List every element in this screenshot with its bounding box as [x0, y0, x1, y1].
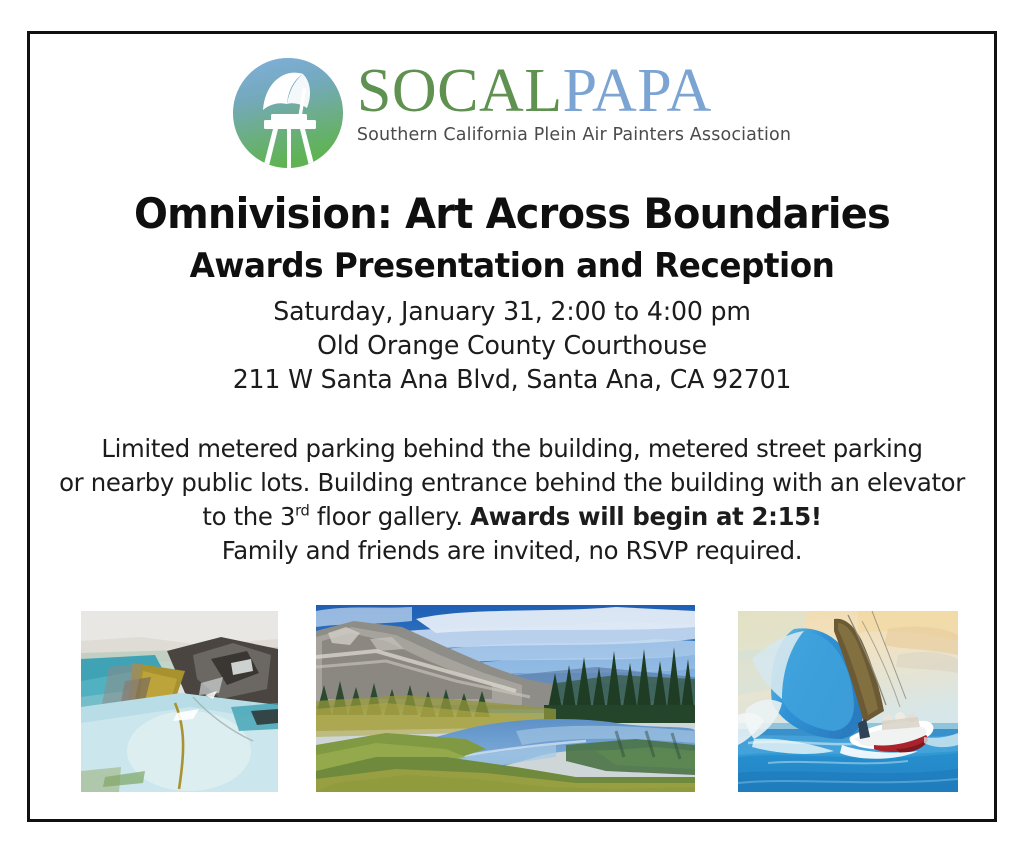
artwork-sailboat [738, 611, 958, 792]
logistics-line-3: to the 3rd floor gallery. Awards will be… [56, 500, 969, 534]
plein-air-easel-umbrella-icon [233, 58, 343, 168]
artwork-river-valley [316, 605, 695, 792]
event-details: Saturday, January 31, 2:00 to 4:00 pm Ol… [44, 296, 979, 397]
event-venue: Old Orange County Courthouse [44, 330, 979, 364]
logo-tagline: Southern California Plein Air Painters A… [357, 125, 791, 145]
logistics-floor-prefix: to the 3 [202, 502, 295, 531]
logistics-paragraph: Limited metered parking behind the build… [56, 432, 969, 568]
flyer-frame: SOCALPAPA Southern California Plein Air … [27, 31, 997, 822]
logistics-line-2: or nearby public lots. Building entrance… [56, 466, 969, 500]
event-datetime: Saturday, January 31, 2:00 to 4:00 pm [44, 296, 979, 330]
logistics-line-4: Family and friends are invited, no RSVP … [56, 534, 969, 568]
logo-wordmark: SOCALPAPA [357, 62, 791, 121]
logistics-floor-middle: floor gallery. [309, 502, 470, 531]
logistics-line-1: Limited metered parking behind the build… [56, 432, 969, 466]
organization-logo: SOCALPAPA Southern California Plein Air … [30, 56, 994, 168]
event-address: 211 W Santa Ana Blvd, Santa Ana, CA 9270… [44, 364, 979, 398]
artwork-abstract-coast [81, 611, 278, 792]
awards-start-emphasis: Awards will begin at 2:15! [470, 502, 821, 531]
event-title: Omnivision: Art Across Boundaries [54, 189, 970, 238]
event-subtitle: Awards Presentation and Reception [49, 246, 974, 286]
logo-wordmark-papa: PAPA [563, 57, 712, 125]
logo-wordmark-socal: SOCAL [357, 57, 563, 125]
logistics-floor-ordinal: rd [295, 502, 309, 520]
